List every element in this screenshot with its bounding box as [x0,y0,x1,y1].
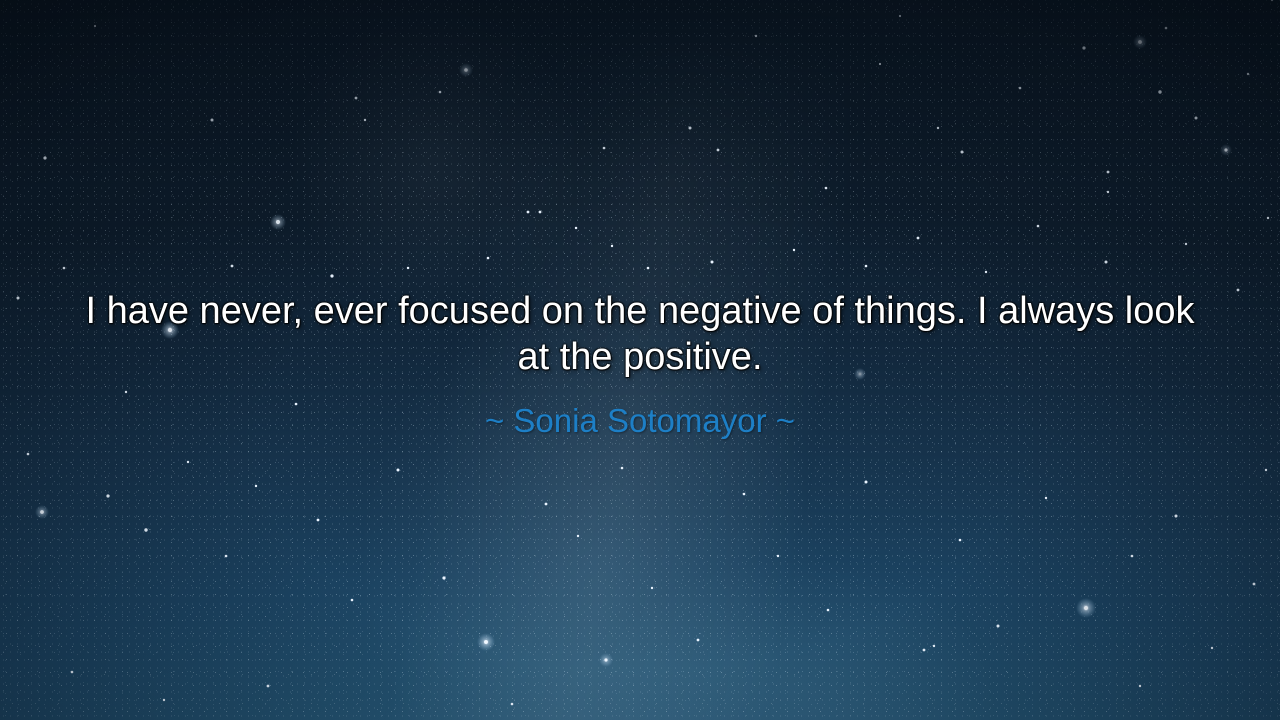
quote-line-1: I have never, ever focused on the negati… [85,290,1114,332]
quote-text-block: I have never, ever focused on the negati… [0,288,1280,440]
quote-text: I have never, ever focused on the negati… [80,288,1200,380]
quote-attribution: ~ Sonia Sotomayor ~ [0,402,1280,440]
quote-card: I have never, ever focused on the negati… [0,0,1280,720]
